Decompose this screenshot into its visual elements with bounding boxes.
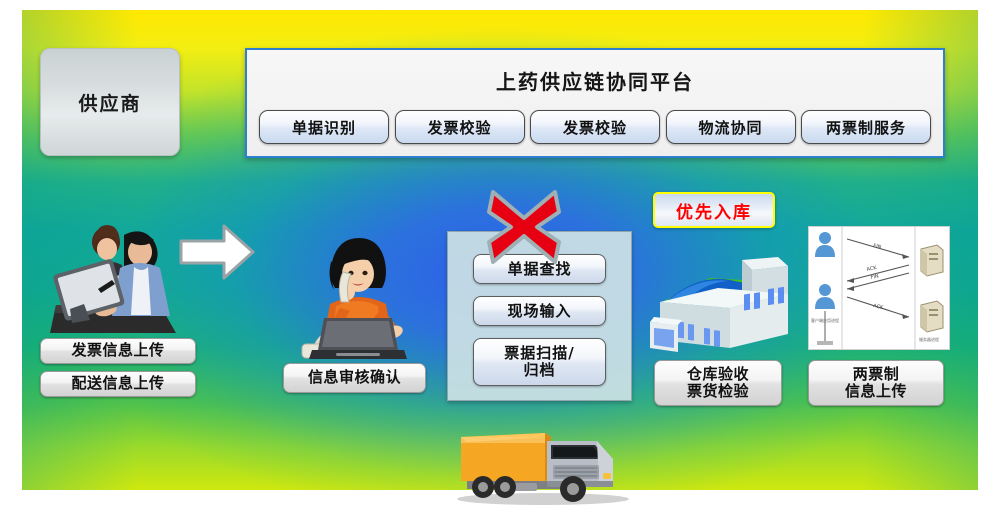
- flow-arrow-right-icon: [178, 221, 256, 283]
- diagram-caption-right: 服务器进程: [919, 336, 939, 342]
- supplier-card[interactable]: 供应商: [40, 48, 180, 156]
- warehouse-label-line2: 票货检验: [687, 383, 749, 400]
- manual-onsite-input-button[interactable]: 现场输入: [473, 296, 606, 326]
- delivery-truck-icon: [447, 425, 637, 507]
- review-confirm-button[interactable]: 信息审核确认: [283, 363, 426, 393]
- cross-out-x-icon: [487, 190, 561, 264]
- tab-invoice-verification-1[interactable]: 发票校验: [395, 110, 525, 144]
- upload-invoice-info-button[interactable]: 发票信息上传: [40, 338, 196, 364]
- server-icon-2: [921, 301, 943, 332]
- tab-document-recognition[interactable]: 单据识别: [259, 110, 389, 144]
- two-invoice-label-line2: 信息上传: [845, 383, 907, 400]
- poster-canvas: 供应商 上药供应链协同平台 单据识别 发票校验 发票校验 物流协同 两票制服务: [0, 0, 1000, 512]
- diagram-caption-left: 客户端应用进程: [811, 317, 839, 323]
- woman-on-phone-illustration: [296, 232, 418, 362]
- manual-scan-archive-line1: 票据扫描/: [504, 345, 574, 362]
- tab-invoice-verification-2[interactable]: 发票校验: [530, 110, 660, 144]
- warehouse-label-line1: 仓库验收: [687, 366, 749, 383]
- two-invoice-label-line1: 两票制: [853, 366, 900, 383]
- tab-two-invoice-service[interactable]: 两票制服务: [801, 110, 931, 144]
- two-people-at-desk-illustration: [48, 205, 198, 350]
- platform-tab-bar: 单据识别 发票校验 发票校验 物流协同 两票制服务: [259, 108, 931, 146]
- two-invoice-upload-label[interactable]: 两票制 信息上传: [808, 360, 944, 406]
- server-icon-1: [921, 245, 943, 276]
- manual-scan-archive-line2: 归档: [523, 362, 555, 379]
- network-sequence-diagram: FIN ACK FIN ACK 客户端应用进程 服务器进程: [808, 226, 950, 350]
- tab-logistics-collaboration[interactable]: 物流协同: [666, 110, 796, 144]
- priority-inbound-badge[interactable]: 优先入库: [653, 192, 775, 228]
- warehouse-building-icon: [648, 256, 798, 360]
- upload-delivery-info-button[interactable]: 配送信息上传: [40, 371, 196, 397]
- platform-panel: 上药供应链协同平台 单据识别 发票校验 发票校验 物流协同 两票制服务: [245, 48, 945, 158]
- platform-title: 上药供应链协同平台: [247, 66, 943, 95]
- supplier-label: 供应商: [78, 89, 141, 116]
- manual-scan-archive-button[interactable]: 票据扫描/ 归档: [473, 338, 606, 386]
- warehouse-acceptance-label[interactable]: 仓库验收 票货检验: [654, 360, 782, 406]
